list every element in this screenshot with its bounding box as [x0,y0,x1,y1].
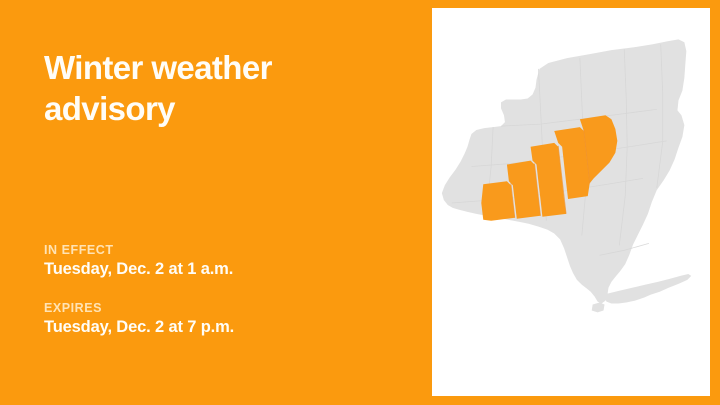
new-york-state-shape [442,39,686,303]
alert-times: IN EFFECT Tuesday, Dec. 2 at 1 a.m. EXPI… [44,243,404,338]
in-effect-label: IN EFFECT [44,243,404,258]
weather-alert-graphic: Winter weather advisory IN EFFECT Tuesda… [0,0,720,405]
alert-info-panel: Winter weather advisory IN EFFECT Tuesda… [0,0,430,405]
new-york-state-map [432,8,710,396]
page-title: Winter weather advisory [44,48,394,130]
long-island-shape [605,274,692,304]
expires-value: Tuesday, Dec. 2 at 7 p.m. [44,318,404,338]
in-effect-value: Tuesday, Dec. 2 at 1 a.m. [44,260,404,280]
advisory-county-1 [481,181,515,220]
in-effect-block: IN EFFECT Tuesday, Dec. 2 at 1 a.m. [44,243,404,280]
map-panel [430,6,712,398]
staten-island-shape [592,303,605,313]
expires-block: EXPIRES Tuesday, Dec. 2 at 7 p.m. [44,301,404,338]
expires-label: EXPIRES [44,301,404,316]
